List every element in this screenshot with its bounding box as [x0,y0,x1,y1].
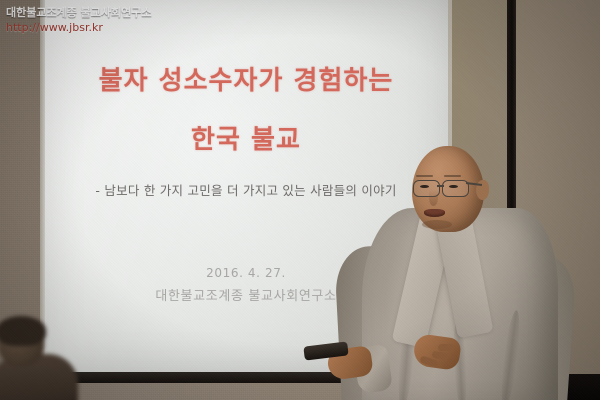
speaker-monk [380,150,600,400]
eyeglasses-bridge [437,185,444,187]
audience-hair [0,316,46,346]
chin-shadow [422,220,452,229]
mouth [424,209,445,217]
finger [438,344,454,352]
eyeglasses-lens-right [442,180,469,197]
lecture-photo: 불자 성소수자가 경험하는 한국 불교 - 남보다 한 가지 고민을 더 가지고… [0,0,600,400]
slide-title-line-1: 불자 성소수자가 경험하는 [44,60,448,97]
nose [429,190,438,206]
audience-member [0,318,86,400]
